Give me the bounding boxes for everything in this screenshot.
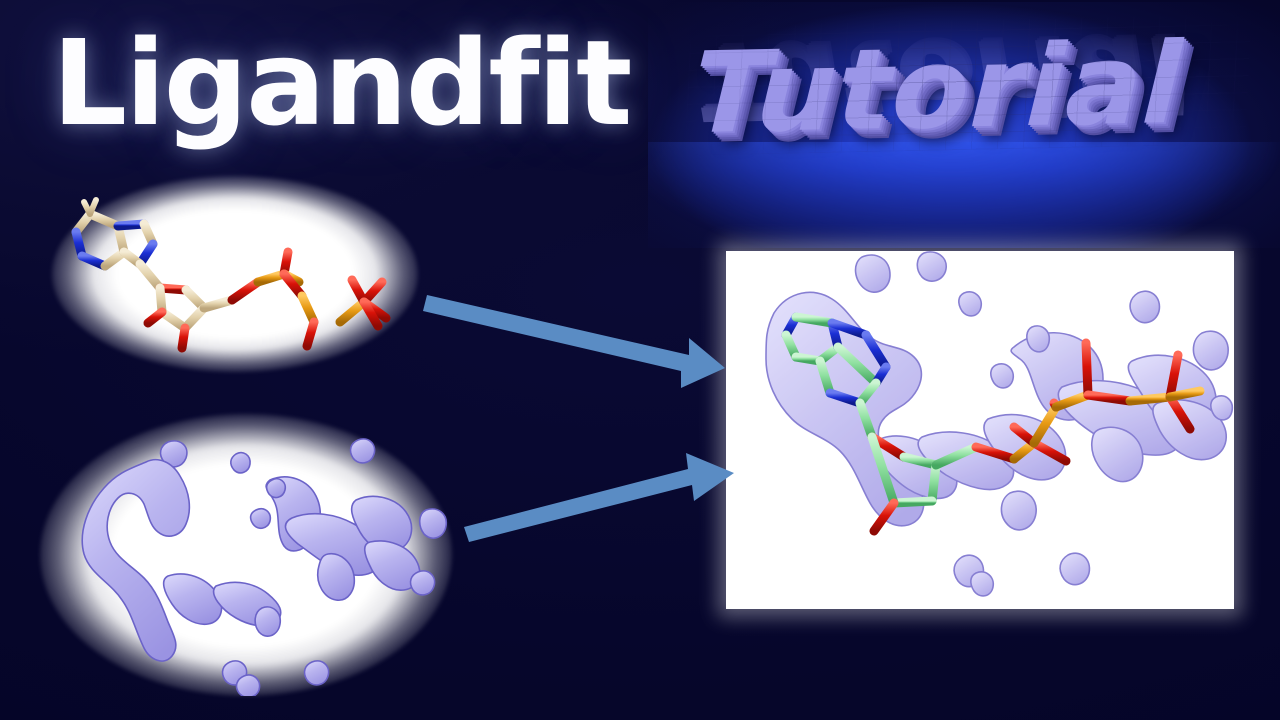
density-envelope xyxy=(766,252,1232,596)
arrow-ligand-to-result xyxy=(415,280,735,395)
arrow-density-to-result xyxy=(450,445,740,545)
tutorial-text: Tutorial xyxy=(691,19,1186,159)
density-map-icon xyxy=(40,414,452,696)
electron-density-render xyxy=(40,414,452,696)
slide-root: Ligandfit Tutorial Tutorial xyxy=(0,0,1280,720)
fitted-ligand-panel xyxy=(726,251,1234,609)
tutorial-graphic: Tutorial Tutorial xyxy=(648,2,1280,248)
electron-density-oval xyxy=(40,414,452,696)
ligand-structure-oval xyxy=(52,176,418,372)
page-title: Ligandfit xyxy=(52,24,630,142)
fitted-ligand-render xyxy=(726,251,1234,609)
atp-stick-model-icon xyxy=(52,176,418,372)
ligand-structure-render xyxy=(52,176,418,372)
